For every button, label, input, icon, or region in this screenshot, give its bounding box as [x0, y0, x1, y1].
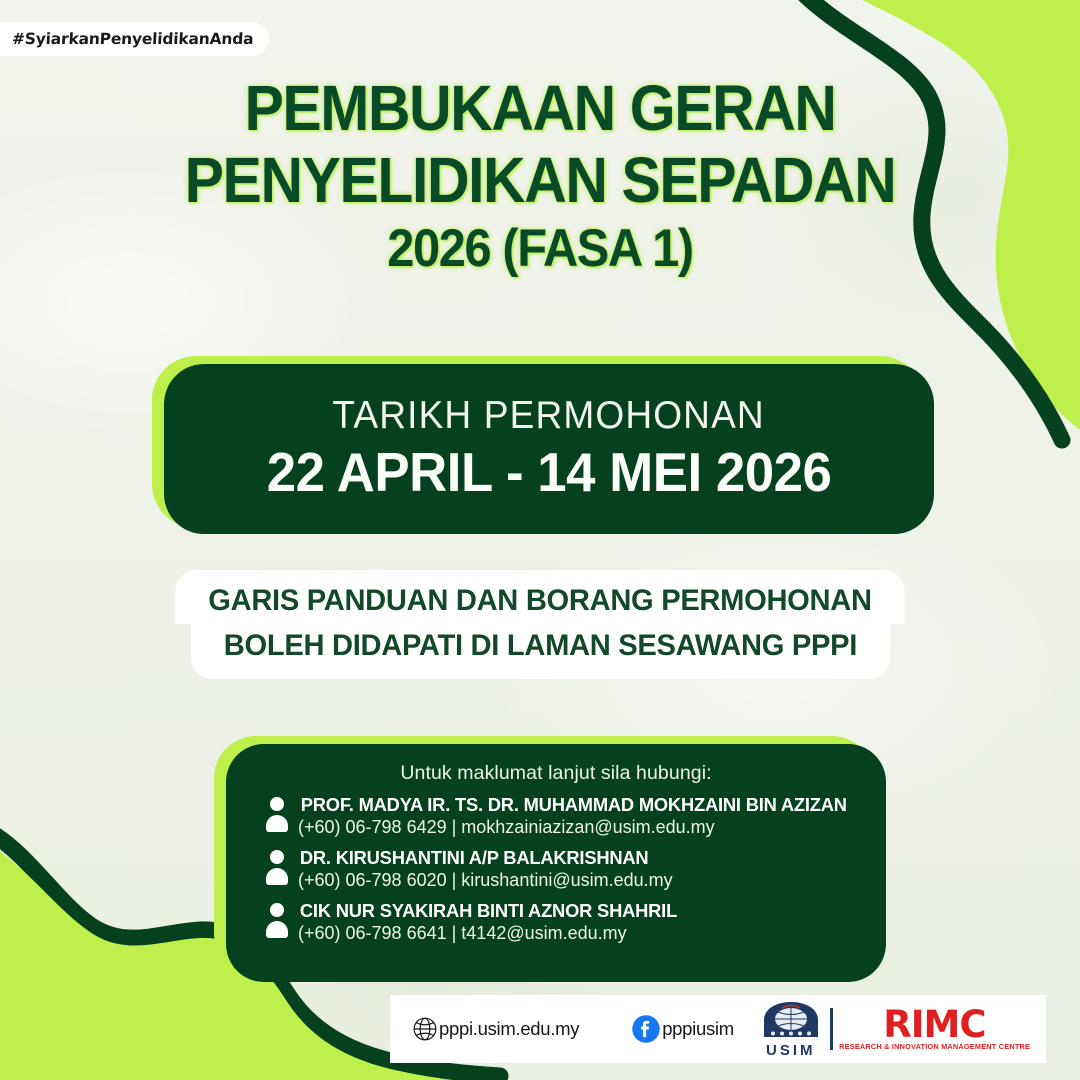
- title-line-3: 2026 (FASA 1): [43, 216, 1037, 282]
- website-link[interactable]: pppi.usim.edu.my: [412, 1016, 579, 1042]
- page-title: PEMBUKAAN GERAN PENYELIDIKAN SEPADAN 202…: [0, 72, 1080, 282]
- contact-heading: Untuk maklumat lanjut sila hubungi:: [252, 762, 860, 785]
- person-icon: [266, 796, 288, 836]
- hashtag-label: #SyiarkanPenyelidikanAnda: [12, 30, 254, 48]
- person-icon: [266, 902, 288, 942]
- contact-detail[interactable]: (+60) 06-798 6020 | kirushantini@usim.ed…: [298, 870, 673, 891]
- contact-text: PROF. MADYA IR. TS. DR. MUHAMMAD MOKHZAI…: [298, 794, 850, 838]
- date-card-label: TARIKH PERMOHONAN: [333, 394, 765, 438]
- contact-row: DR. KIRUSHANTINI A/P BALAKRISHNAN (+60) …: [252, 847, 860, 891]
- usim-dome-icon: [760, 999, 822, 1041]
- footer-logos: USIM RIMC RESEARCH & INNOVATION MANAGEME…: [760, 999, 1028, 1059]
- website-label: pppi.usim.edu.my: [439, 1018, 579, 1040]
- date-card-body: TARIKH PERMOHONAN 22 APRIL - 14 MEI 2026: [164, 364, 934, 534]
- logo-divider: [830, 1008, 833, 1050]
- hashtag-badge: #SyiarkanPenyelidikanAnda: [0, 22, 269, 56]
- contact-name: CIK NUR SYAKIRAH BINTI AZNOR SHAHRIL: [300, 900, 677, 922]
- contact-detail[interactable]: (+60) 06-798 6641 | t4142@usim.edu.my: [298, 923, 679, 944]
- facebook-icon: [631, 1014, 661, 1044]
- title-line-2: PENYELIDIKAN SEPADAN: [43, 144, 1037, 216]
- person-icon: [266, 849, 288, 889]
- date-card-value: 22 APRIL - 14 MEI 2026: [267, 440, 832, 504]
- contact-detail[interactable]: (+60) 06-798 6429 | mokhzainiazizan@usim…: [298, 817, 850, 838]
- rimc-subtitle: RESEARCH & INNOVATION MANAGEMENT CENTRE: [839, 1042, 1030, 1051]
- contact-text: DR. KIRUSHANTINI A/P BALAKRISHNAN (+60) …: [298, 847, 673, 891]
- title-line-1: PEMBUKAAN GERAN: [43, 72, 1037, 144]
- poster-canvas: #SyiarkanPenyelidikanAnda PEMBUKAAN GERA…: [0, 0, 1080, 1080]
- application-date-card: TARIKH PERMOHONAN 22 APRIL - 14 MEI 2026: [152, 356, 934, 534]
- rimc-logo: RIMC RESEARCH & INNOVATION MANAGEMENT CE…: [841, 1008, 1028, 1051]
- contact-name: DR. KIRUSHANTINI A/P BALAKRISHNAN: [300, 847, 671, 869]
- facebook-label: pppiusim: [662, 1018, 734, 1040]
- globe-icon: [412, 1016, 438, 1042]
- contact-name: PROF. MADYA IR. TS. DR. MUHAMMAD MOKHZAI…: [301, 794, 847, 816]
- guideline-line-1: GARIS PANDUAN DAN BORANG PERMOHONAN: [175, 570, 904, 624]
- rimc-wordmark: RIMC: [883, 1008, 985, 1042]
- guideline-line-2: BOLEH DIDAPATI DI LAMAN SESAWANG PPPI: [190, 623, 889, 679]
- contact-card-body: Untuk maklumat lanjut sila hubungi: PROF…: [226, 744, 886, 982]
- usim-wordmark: USIM: [766, 1042, 816, 1059]
- contact-text: CIK NUR SYAKIRAH BINTI AZNOR SHAHRIL (+6…: [298, 900, 679, 944]
- usim-logo: USIM: [760, 999, 822, 1059]
- contact-row: PROF. MADYA IR. TS. DR. MUHAMMAD MOKHZAI…: [252, 794, 860, 838]
- facebook-link[interactable]: pppiusim: [631, 1014, 734, 1044]
- footer-bar: pppi.usim.edu.my pppiusim: [390, 995, 1046, 1063]
- contact-card: Untuk maklumat lanjut sila hubungi: PROF…: [214, 736, 886, 982]
- guideline-banner: GARIS PANDUAN DAN BORANG PERMOHONAN BOLE…: [0, 570, 1080, 679]
- contact-row: CIK NUR SYAKIRAH BINTI AZNOR SHAHRIL (+6…: [252, 900, 860, 944]
